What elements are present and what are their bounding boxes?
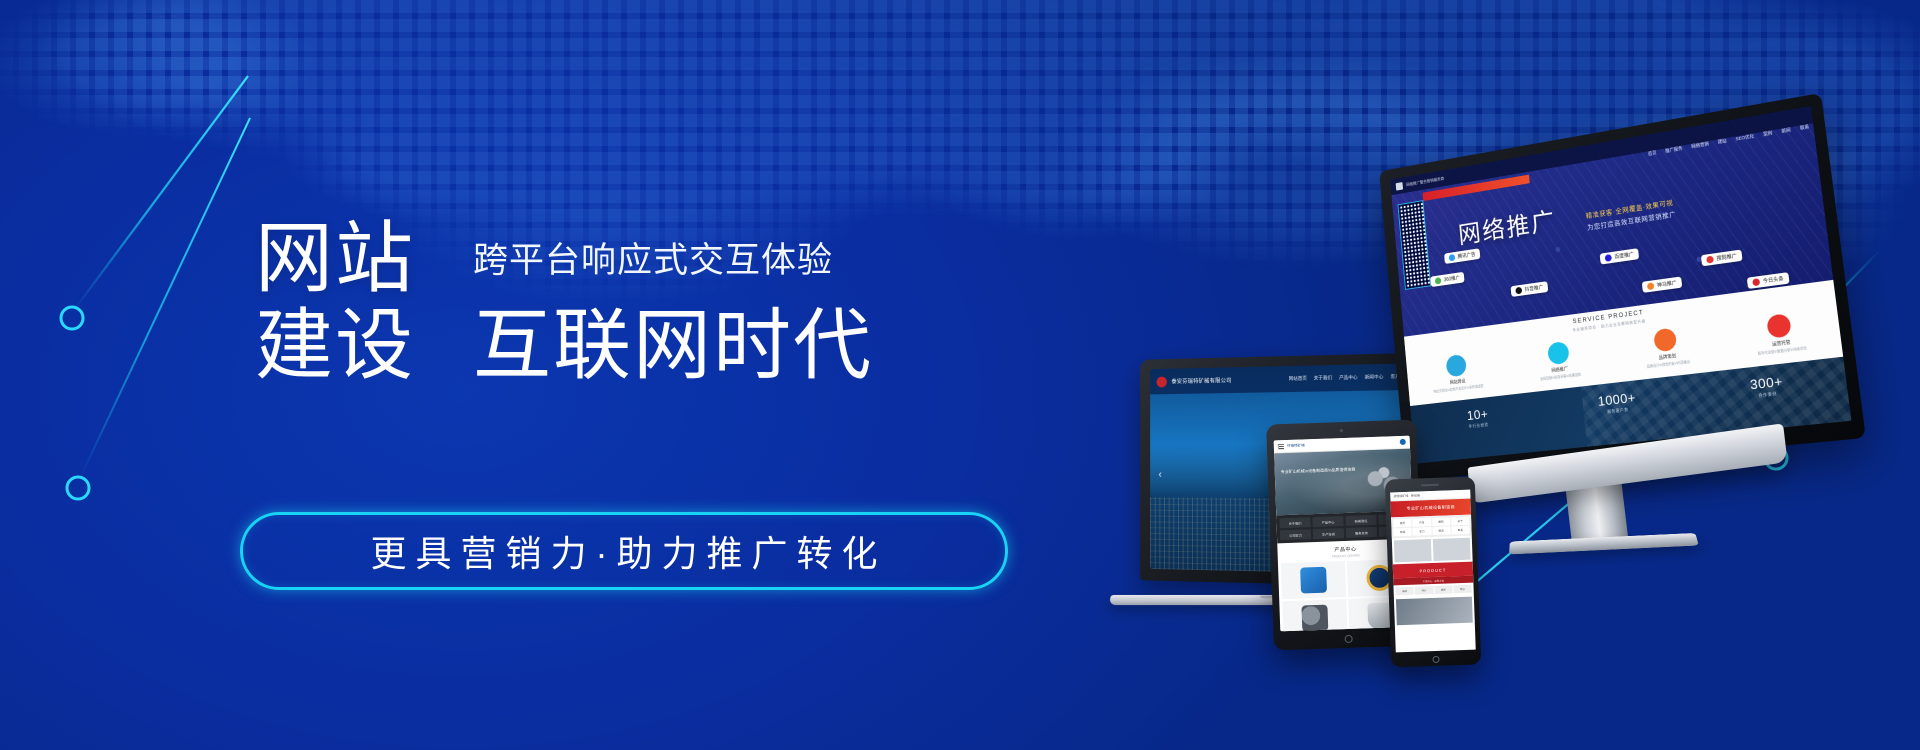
platform-badge-icon [1706, 256, 1714, 264]
tablet-menu-item[interactable]: 新闻资讯 [1345, 515, 1376, 526]
tagline-pill: 更具营销力·助力推广转化 [240, 512, 1008, 590]
device-mockup-group: 泰安芬瑞特矿械有限公司 网站首页 关于我们 产品中心 新闻中心 客户案例 公司实… [1080, 120, 1920, 640]
phone-tag-row: 破碎 筛分 输送 除尘 [1393, 583, 1473, 598]
phone-nav-item[interactable]: 首页 [1393, 519, 1412, 528]
phone-tag[interactable]: 破碎 [1396, 587, 1415, 596]
tablet-product-cell[interactable] [1282, 599, 1347, 631]
phone-nav-grid: 首页 产品 案例 关于 新闻 实力 服务 联系 [1391, 515, 1472, 539]
service-icon [1445, 354, 1467, 378]
monitor-site-brand: 网络推广整合营销服务商 [1406, 175, 1444, 187]
headline-row-2: 建设 互联网时代 [255, 305, 1055, 386]
phone-nav-item[interactable]: 新闻 [1393, 528, 1412, 537]
phone-nav-item[interactable]: 实力 [1413, 527, 1432, 536]
platform-badge: 神马推广 [1642, 276, 1683, 292]
laptop-nav-item: 网站首页 [1289, 376, 1307, 382]
phone-content-image [1396, 597, 1473, 626]
headline-keyword-1: 网站 [255, 218, 415, 299]
headline-block: 网站 跨平台响应式交互体验 建设 互联网时代 [255, 218, 1055, 386]
tablet-menu-item[interactable]: 关于我们 [1279, 517, 1310, 528]
monitor-screen: 网络推广整合营销服务商 首页 推广服务 网络营销 建站 SEO优化 案例 新闻 … [1390, 106, 1851, 464]
platform-badge-label: 百度推广 [1614, 251, 1634, 261]
phone-mockup: 芬瑞特矿械 · 移动端 专业矿山机械设备制造商 首页 产品 案例 关于 新闻 实… [1385, 476, 1482, 667]
stat-label: 合作案例 [1691, 385, 1847, 407]
platform-badge-label: 360推广 [1443, 274, 1460, 283]
phone-thumbnail [1433, 538, 1471, 561]
stat-item: 10+ 年行业经验 [1411, 400, 1547, 436]
laptop-site-brand: 泰安芬瑞特矿械有限公司 [1171, 376, 1231, 385]
platform-badge-icon [1435, 277, 1442, 285]
phone-status-text: 芬瑞特矿械 · 移动端 [1393, 493, 1420, 498]
stat-value: 1000+ [1545, 384, 1691, 415]
service-card: 网络推广 全网营销\n精准获客\n效果追踪 [1505, 336, 1614, 386]
platform-badge-icon [1515, 287, 1522, 295]
phone-nav-item[interactable]: 联系 [1451, 526, 1470, 535]
service-card: 运营托管 账号代运营\n数据分析\n持续优化 [1720, 307, 1842, 360]
monitor-frame: 网络推广整合营销服务商 首页 推广服务 网络营销 建站 SEO优化 案例 新闻 … [1379, 93, 1866, 481]
headline-highlight: 互联网时代 [473, 305, 873, 386]
tablet-menu-item[interactable]: 产品中心 [1312, 516, 1343, 527]
tablet-site-logo-icon [1400, 439, 1406, 445]
platform-badge-icon [1647, 282, 1655, 290]
hamburger-menu-icon[interactable] [1278, 444, 1284, 449]
laptop-nav-item: 关于我们 [1314, 375, 1332, 381]
platform-badge-label: 抖音推广 [1524, 284, 1543, 293]
tablet-product-image [1301, 605, 1328, 632]
phone-nav-item[interactable]: 案例 [1432, 517, 1451, 526]
tablet-site-brand: 芬瑞特矿械 [1287, 443, 1305, 449]
stat-value: 300+ [1689, 367, 1846, 400]
service-icon [1766, 313, 1792, 339]
platform-badge-icon [1752, 278, 1760, 286]
tablet-camera-icon [1340, 429, 1343, 432]
promo-banner: 网站 跨平台响应式交互体验 建设 互联网时代 更具营销力·助力推广转化 泰安芬瑞… [0, 0, 1920, 750]
tablet-menu-item[interactable]: 服务支持 [1346, 527, 1377, 538]
platform-badge-icon [1605, 254, 1612, 262]
headline-subtitle: 跨平台响应式交互体验 [473, 232, 833, 299]
platform-badge-label: 腾讯广告 [1457, 251, 1475, 260]
laptop-site-logo-icon [1157, 376, 1167, 387]
phone-thumbnail [1394, 539, 1432, 562]
tablet-home-button-icon [1344, 635, 1352, 643]
stat-item: 300+ 合作案例 [1689, 367, 1847, 407]
phone-nav-item[interactable]: 关于 [1451, 517, 1470, 526]
headline-keyword-2: 建设 [255, 305, 415, 386]
phone-tag[interactable]: 输送 [1434, 585, 1453, 594]
phone-speaker-icon [1421, 484, 1439, 487]
tagline-text: 更具营销力·助力推广转化 [362, 525, 887, 577]
phone-home-button-icon [1432, 656, 1439, 663]
tablet-product-cell[interactable] [1281, 561, 1346, 599]
phone-nav-item[interactable]: 产品 [1412, 518, 1431, 527]
phone-nav-item[interactable]: 服务 [1432, 526, 1451, 535]
phone-tag[interactable]: 筛分 [1415, 586, 1434, 595]
platform-badge: 百度推广 [1600, 248, 1640, 264]
phone-thumbnail-row [1392, 536, 1473, 565]
platform-badge-icon [1449, 254, 1456, 262]
tablet-menu-item[interactable]: 生产车间 [1313, 528, 1344, 539]
headline-row-1: 网站 跨平台响应式交互体验 [255, 218, 1055, 299]
service-icon [1547, 341, 1570, 365]
platform-badge-label: 神马推广 [1657, 279, 1678, 289]
stat-item: 1000+ 服务客户数 [1545, 384, 1692, 422]
service-icon [1653, 328, 1677, 353]
tablet-product-image [1300, 567, 1327, 594]
platform-badge-label: 今日头条 [1762, 275, 1784, 285]
monitor-site-logo-icon [1396, 182, 1403, 191]
service-card: 网站建设 响应式网站\n定制开发设计\n多终端适配 [1406, 349, 1509, 397]
laptop-carousel-prev-arrow: ‹ [1158, 469, 1161, 481]
platform-badge: 360推广 [1430, 272, 1465, 287]
tablet-hero-text: 专业矿山机械\n设备制造商\n品质值得信赖 [1281, 467, 1356, 476]
platform-badge-label: 搜狗推广 [1716, 252, 1737, 262]
phone-screen: 芬瑞特矿械 · 移动端 专业矿山机械设备制造商 首页 产品 案例 关于 新闻 实… [1390, 490, 1476, 653]
service-card: 品牌策划 品牌设计\n视觉形象\n内容输出 [1610, 322, 1725, 374]
platform-badge: 搜狗推广 [1701, 249, 1743, 266]
phone-tag[interactable]: 除尘 [1453, 585, 1472, 594]
tablet-menu-item[interactable]: 公司实力 [1280, 529, 1311, 540]
laptop-nav-item: 产品中心 [1339, 375, 1358, 381]
monitor-stand-base [1509, 533, 1699, 554]
platform-badge: 抖音推广 [1511, 281, 1549, 297]
